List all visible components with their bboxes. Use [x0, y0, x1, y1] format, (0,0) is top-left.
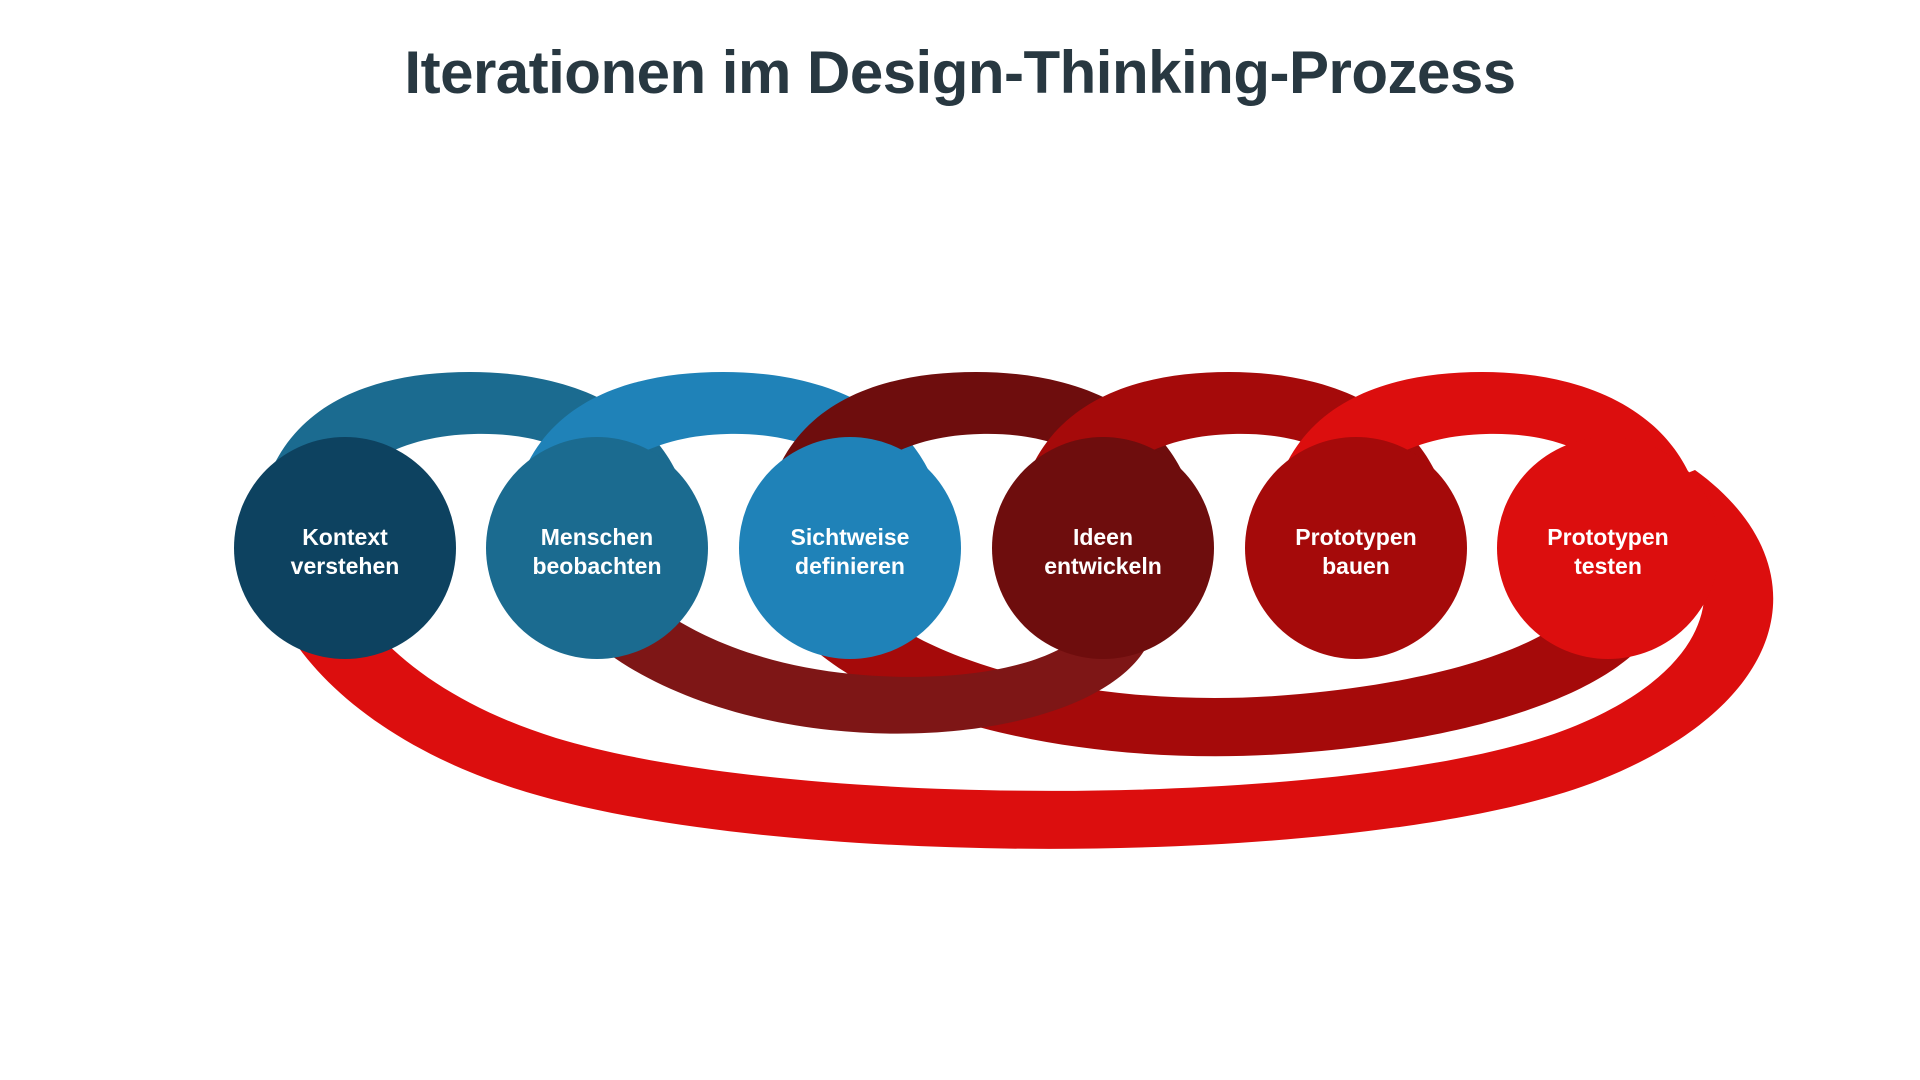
node-label-line2: entwickeln	[1044, 553, 1162, 579]
node-label-line2: definieren	[795, 553, 905, 579]
node-1[interactable]: Kontext verstehen	[234, 437, 456, 659]
node-label-line2: testen	[1574, 553, 1642, 579]
slide-canvas: Iterationen im Design-Thinking-Prozess	[0, 0, 1920, 1080]
node-label-line1: Menschen	[541, 524, 653, 550]
node-label-line1: Kontext	[302, 524, 388, 550]
node-label-line1: Prototypen	[1295, 524, 1416, 550]
design-thinking-diagram: Kontext verstehen Menschen beobachten Si…	[0, 0, 1920, 1080]
node-2[interactable]: Menschen beobachten	[486, 437, 708, 659]
node-label-line1: Sichtweise	[791, 524, 910, 550]
node-label-line2: verstehen	[291, 553, 400, 579]
node-6[interactable]: Prototypen testen	[1497, 437, 1719, 659]
node-label-line2: beobachten	[532, 553, 661, 579]
node-group: Kontext verstehen Menschen beobachten Si…	[234, 437, 1719, 659]
node-label-line1: Ideen	[1073, 524, 1133, 550]
node-3[interactable]: Sichtweise definieren	[739, 437, 961, 659]
node-5[interactable]: Prototypen bauen	[1245, 437, 1467, 659]
node-4[interactable]: Ideen entwickeln	[992, 437, 1214, 659]
forward-arc-group	[256, 372, 1692, 630]
node-label-line2: bauen	[1322, 553, 1390, 579]
node-label-line1: Prototypen	[1547, 524, 1668, 550]
